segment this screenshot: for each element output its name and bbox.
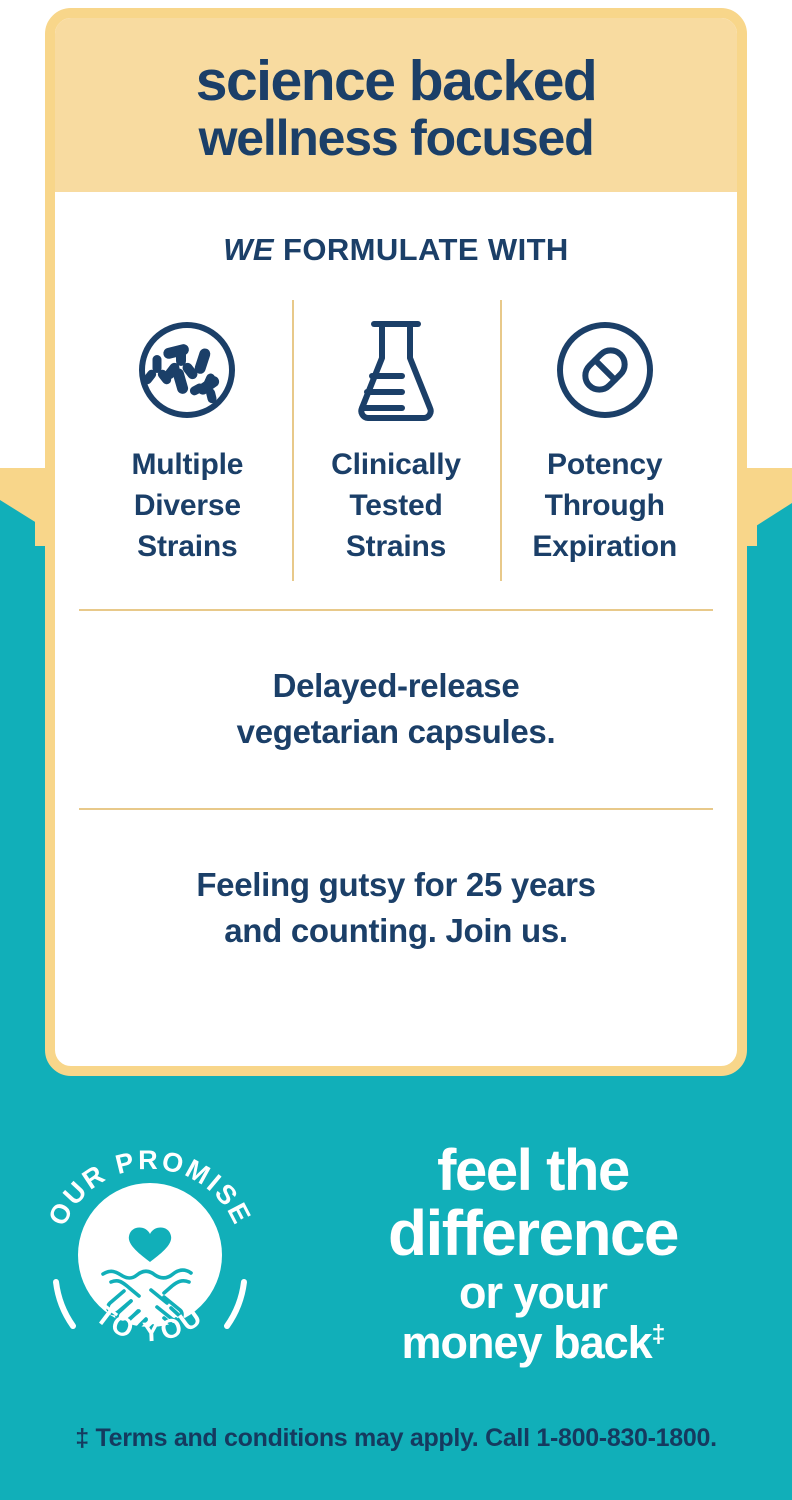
feature-label: Potency Through Expiration xyxy=(506,444,703,567)
double-dagger-symbol: ‡ xyxy=(652,1321,665,1348)
delayed-release-line-2: vegetarian capsules. xyxy=(77,709,715,755)
feature-label-line-3: Expiration xyxy=(506,526,703,567)
badge-arc-right xyxy=(227,1282,244,1326)
promise-line-2: difference xyxy=(300,1200,766,1268)
capsule-pill-icon xyxy=(506,314,703,426)
formulate-title-emphasis: WE xyxy=(223,232,274,267)
formulate-title: WE FORMULATE WITH xyxy=(77,232,715,268)
feature-label-line-1: Clinically xyxy=(298,444,495,485)
feature-clinically-tested-strains: Clinically Tested Strains xyxy=(292,314,501,567)
info-card: science backed wellness focused WE FORMU… xyxy=(45,8,747,1076)
feature-label-line-2: Diverse xyxy=(89,485,286,526)
formulate-title-rest: FORMULATE WITH xyxy=(274,232,569,267)
feature-label-line-3: Strains xyxy=(89,526,286,567)
feature-label-line-1: Potency xyxy=(506,444,703,485)
card-body: WE FORMULATE WITH xyxy=(55,232,737,953)
delayed-release-text: Delayed-release vegetarian capsules. xyxy=(77,663,715,754)
gutsy-line-1: Feeling gutsy for 25 years xyxy=(77,862,715,908)
feature-label-line-1: Multiple xyxy=(89,444,286,485)
promise-line-1: feel the xyxy=(300,1142,766,1200)
our-promise-badge: OUR PROMISE TO YOU xyxy=(0,1130,300,1380)
gutsy-text: Feeling gutsy for 25 years and counting.… xyxy=(77,862,715,953)
gutsy-line-2: and counting. Join us. xyxy=(77,908,715,954)
promise-copy: feel the difference or your money back‡ xyxy=(300,1142,792,1369)
promise-line-3: or your xyxy=(300,1268,766,1318)
feature-columns: Multiple Diverse Strains xyxy=(77,314,715,567)
divider-bottom xyxy=(79,808,713,810)
promise-section: OUR PROMISE TO YOU feel the difference o… xyxy=(0,1100,792,1410)
headline-line-1: science backed xyxy=(81,52,711,110)
petri-dish-bacteria-icon xyxy=(89,314,286,426)
promise-line-4: money back‡ xyxy=(300,1318,766,1368)
headline-line-2: wellness focused xyxy=(81,110,711,166)
feature-label-line-3: Strains xyxy=(298,526,495,567)
feature-potency-through-expiration: Potency Through Expiration xyxy=(500,314,709,567)
feature-multiple-diverse-strains: Multiple Diverse Strains xyxy=(83,314,292,567)
card-header: science backed wellness focused xyxy=(55,18,737,192)
promise-line-4-text: money back xyxy=(402,1317,652,1368)
divider-top xyxy=(79,609,713,611)
badge-arc-left xyxy=(56,1282,73,1326)
feature-label-line-2: Tested xyxy=(298,485,495,526)
delayed-release-line-1: Delayed-release xyxy=(77,663,715,709)
feature-label: Clinically Tested Strains xyxy=(298,444,495,567)
feature-label-line-2: Through xyxy=(506,485,703,526)
terms-and-conditions: ‡ Terms and conditions may apply. Call 1… xyxy=(0,1424,792,1453)
feature-label: Multiple Diverse Strains xyxy=(89,444,286,567)
erlenmeyer-flask-icon xyxy=(298,314,495,426)
